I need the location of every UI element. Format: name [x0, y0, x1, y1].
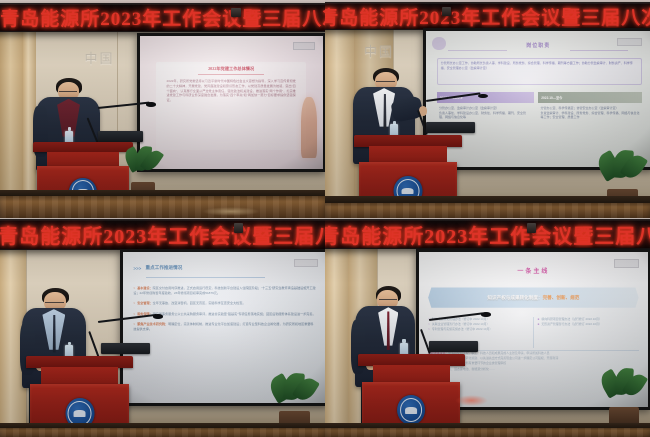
stage-floor — [0, 196, 325, 218]
photo-panel-bottom-right: 青岛能源所2023年工作会议暨三届八次 一条主线 知识产权与成果转化制度：完善、… — [325, 218, 650, 437]
slide-title: 重点工作推进情况 — [146, 265, 183, 271]
emblem-ring — [400, 398, 423, 422]
slide-title-rule — [198, 74, 264, 75]
bullet-label: 聚焦产业技术研究院： — [137, 322, 168, 326]
stage-floor — [325, 203, 650, 218]
slide-title: 一条主线 — [419, 266, 648, 275]
doc-text: 关联企业管理暂行办法（修订中 2022.10月） — [432, 322, 490, 326]
doc-text: 专利管理与实施实施办法（修订中 2022.10月） — [432, 327, 492, 331]
emblem-core — [402, 188, 414, 195]
slide-title-rule-left — [448, 50, 507, 51]
projector-screen-frame: 2022年党建工作总体情况 2022年，研究所党委坚持以习近平新时代中国特色社会… — [137, 33, 326, 172]
laptop — [101, 343, 150, 354]
led-banner: 青岛能源所2023年工作会议暨三届八次 — [0, 3, 325, 32]
laptop — [98, 131, 144, 142]
led-banner-text: 青岛能源所2023年工作会议暨三届八次 — [0, 4, 325, 31]
laptop — [429, 341, 478, 352]
podium-neck — [373, 365, 450, 383]
slide-duties-summary: 分管所长办公室工作，协助所长负责人事、学科建设、所务党务、综合管理、科学传播、期… — [437, 58, 642, 85]
photo-panel-top-left: 中国 青岛能源所2023年工作会议暨三届八次 2022年党建工作总体情况 202… — [0, 0, 325, 218]
slide-title-rule — [146, 277, 266, 278]
institute-emblem — [397, 395, 425, 425]
bullet-marker-icon: > — [133, 301, 135, 305]
microphone-head — [153, 314, 163, 318]
wall-calligraphy: 中国 — [364, 41, 394, 60]
bullet-text: 全年无事故，改变消警机，园区无盲区，实验科学互查安全大检查。 — [153, 301, 246, 305]
photo-panel-bottom-left: 中国 青岛能源所2023年工作会议暨三届八次 >>> 重点工作推进情况 >基本建… — [0, 218, 325, 437]
ceiling-speaker-icon — [442, 7, 451, 16]
laptop — [426, 122, 475, 133]
ceiling-speaker-icon — [234, 223, 243, 233]
led-banner-text: 青岛能源所2023年工作会议暨三届八次职 — [325, 3, 650, 30]
glasses-icon — [376, 81, 395, 82]
ceiling-speaker-icon — [527, 223, 536, 233]
slide-ribbon: 知识产权与成果转化制度：完善、创新、规范 — [428, 287, 638, 307]
slide-corner-tag — [293, 42, 315, 49]
slide-bullet: >聚焦产业技术研究院：明确定位，完善体制机制，推进专业化平台加速建设；打造专业型… — [133, 322, 316, 332]
projector-screen: 2022年党建工作总体情况 2022年，研究所党委坚持以习近平新时代中国特色社会… — [140, 36, 323, 169]
potted-plant — [601, 371, 647, 428]
note-text: 构建所有重要环节的企业类管理审核 — [460, 361, 506, 365]
podium-top — [26, 356, 133, 368]
wall-pillar-left — [325, 246, 348, 437]
emblem-core — [405, 407, 417, 414]
microphone-head — [146, 102, 156, 106]
slide-doc-item: >专利管理与实施实施办法（修订中 2022.10月） — [428, 327, 529, 332]
bullet-marker-icon: > — [133, 312, 135, 316]
slide-doc-item: ■无形资产管理暂行办法（试行修订 2022.10月） — [538, 322, 639, 327]
bullet-label: 安全管理： — [137, 301, 152, 305]
microphone-head — [481, 312, 491, 316]
doc-marker-icon: ■ — [538, 322, 540, 326]
slide-column-item: 负责监察审计、学科建设、所务党务、综合管理、科学传播、网络与信息化等工作；安全管… — [541, 111, 640, 121]
bullet-text: 院区交付启用时序推进，正式启用运行稳定，科技创新平台建设入住院区阶段；“十三五”… — [133, 286, 315, 295]
glasses-icon — [59, 91, 78, 92]
led-banner-text: 青岛能源所2023年工作会议暨三届八次 — [0, 220, 325, 249]
slide-card: 2022年党建工作总体情况 2022年，研究所党委坚持以习近平新时代中国特色社会… — [156, 62, 306, 150]
stage-floor — [0, 428, 325, 437]
glasses-icon — [45, 302, 64, 303]
photo-panel-top-right: 中国 青岛能源所2023年工作会议暨三届八次职 岗位职责 分管所长办公室工作，协… — [325, 0, 650, 218]
slide-doc-column-right: ■横向科研项目管理办法（试行修订 2022.10月） ■无形资产管理暂行办法（试… — [538, 317, 639, 348]
doc-text: 无形资产管理暂行办法（试行修订 2022.10月） — [541, 322, 601, 326]
photo-collage-grid: 中国 青岛能源所2023年工作会议暨三届八次 2022年党建工作总体情况 202… — [0, 0, 650, 437]
ceiling-speaker-icon — [231, 8, 241, 17]
doc-marker-icon: ■ — [538, 317, 540, 321]
slide-body-text: 2022年，研究所党委坚持以习近平新时代中国特色社会主义思想为指导，深入学习宣传… — [167, 79, 296, 103]
glasses-icon — [379, 299, 397, 300]
bullet-marker-icon: > — [133, 286, 135, 290]
podium-neck — [41, 367, 118, 385]
bullet-marker-icon: > — [133, 322, 135, 326]
bullet-text: 研究所事务服务公众公共采购服务审评，推进省实验室“强基实”专项任务落地实施；园区… — [153, 312, 316, 316]
note-text: 科技成果转化奖励、以先进先出方式完善现金公司进一步确定公司股权、开展利润 — [454, 356, 558, 360]
torch-graphic — [301, 97, 317, 158]
slide-top-left: 2022年党建工作总体情况 2022年，研究所党委坚持以习近平新时代中国特色社会… — [140, 36, 323, 169]
led-banner-text: 青岛能源所2023年工作会议暨三届八次 — [325, 220, 650, 249]
slide-bullet: >基本建设：院区交付启用时序推进，正式启用运行稳定，科技创新平台建设入住院区阶段… — [133, 286, 316, 296]
chevron-right-icon: >>> — [133, 266, 141, 271]
slide-title: 岗位职责 — [426, 42, 650, 49]
emblem-core — [74, 410, 86, 417]
slide-corner-tag — [294, 259, 318, 267]
doc-text: 横向科研项目管理办法（试行修订 2022.10月） — [541, 317, 601, 321]
slide-title: 2022年党建工作总体情况 — [156, 66, 306, 72]
podium-top — [358, 354, 465, 366]
bullet-label: 基本建设： — [137, 286, 152, 290]
led-banner: 青岛能源所2023年工作会议暨三届八次 — [325, 219, 650, 249]
slide-title-rule-right — [570, 50, 629, 51]
wall-calligraphy: 中国 — [85, 48, 115, 67]
slide-bullet: >安全管理：全年无事故，改变消警机，园区无盲区，实验科学互查安全大检查。 — [133, 301, 316, 306]
microphone-head — [478, 94, 488, 98]
stage-floor — [325, 428, 650, 437]
led-banner: 青岛能源所2023年工作会议暨三届八次职 — [325, 2, 650, 30]
ribbon-keywords-text: 完善、创新、规范 — [543, 295, 580, 301]
slide-column-header-right: 2022.10—至今 — [538, 92, 642, 103]
ribbon-main-text: 知识产权与成果转化制度： — [487, 295, 542, 301]
led-banner: 青岛能源所2023年工作会议暨三届八次 — [0, 219, 325, 250]
podium-neck — [369, 146, 446, 163]
slide-column-item: 负责人事处、学科建设办公室、财务处、科学传播、期刊、安全管理、网络与信息化等 — [439, 111, 531, 121]
